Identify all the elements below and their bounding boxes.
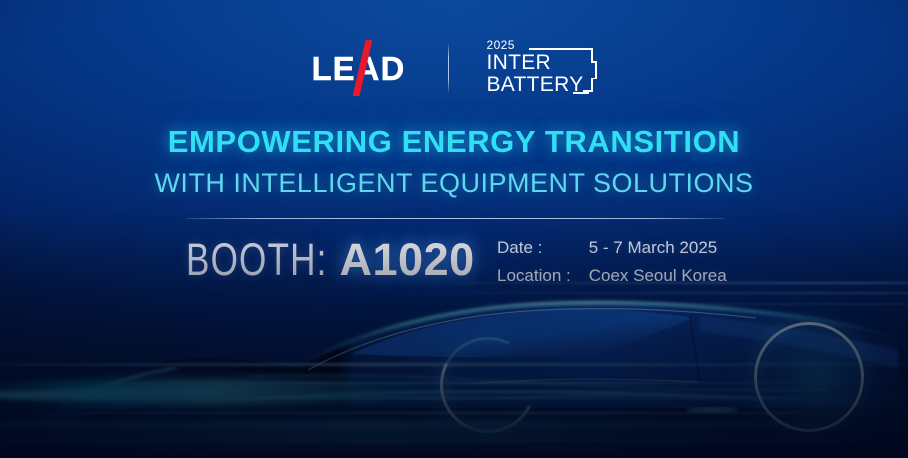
interbattery-line2: BATTERY (487, 74, 584, 95)
horizontal-divider (186, 218, 724, 219)
logo-row: LEAD 2025 INTER BATTERY (0, 36, 908, 100)
subheadline: WITH INTELLIGENT EQUIPMENT SOLUTIONS (0, 168, 908, 199)
date-value: 5 - 7 March 2025 (589, 238, 727, 258)
interbattery-year-rule (529, 48, 583, 50)
interbattery-logo: 2025 INTER BATTERY (485, 39, 597, 97)
interbattery-year: 2025 (487, 39, 515, 51)
headline: EMPOWERING ENERGY TRANSITION (0, 124, 908, 160)
battery-outline-icon (583, 48, 597, 93)
event-banner: LEAD 2025 INTER BATTERY EMPOWERING ENERG… (0, 0, 908, 458)
car-graphic (0, 258, 908, 458)
interbattery-line1: INTER (487, 52, 552, 73)
logo-separator (448, 44, 449, 92)
ground-reflection-glow (0, 418, 908, 452)
lead-logo: LEAD (312, 46, 412, 90)
date-label: Date : (497, 238, 571, 258)
rear-wheel-glow (754, 322, 864, 432)
